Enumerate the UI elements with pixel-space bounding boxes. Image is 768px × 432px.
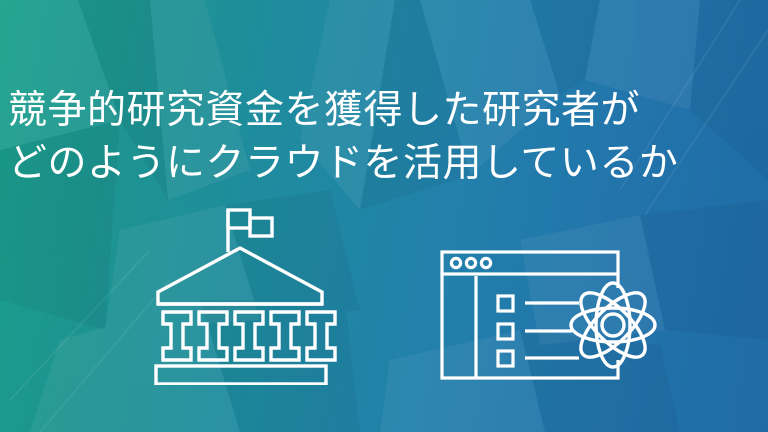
checkbox-3 (498, 351, 513, 366)
checkbox-list (498, 296, 579, 366)
bg-poly-12 (530, 0, 600, 95)
page-title: 競争的研究資金を獲得した研究者が どのようにクラウドを活用しているか (8, 84, 768, 190)
pediment-roof (158, 248, 322, 304)
window-dot-close-icon (451, 258, 460, 267)
flag-banner-lower (250, 218, 272, 236)
checkbox-2 (498, 324, 513, 339)
column-3 (235, 312, 263, 360)
building-base (156, 366, 326, 384)
institution-building-icon (140, 200, 340, 385)
flag-banner-upper (228, 210, 250, 228)
title-line-1: 競争的研究資金を獲得した研究者が (8, 84, 768, 137)
checkbox-1 (498, 296, 513, 311)
browser-title-bar (442, 252, 618, 274)
title-line-2: どのようにクラウドを活用しているか (8, 137, 768, 190)
atom-nucleus (602, 314, 624, 336)
column-2 (199, 312, 227, 360)
column-group (163, 312, 335, 360)
column-1 (163, 312, 191, 360)
research-browser-atom-icon (432, 240, 672, 390)
icon-row (0, 195, 768, 395)
slide-canvas: 競争的研究資金を獲得した研究者が どのようにクラウドを活用しているか (0, 0, 768, 432)
column-4 (271, 312, 299, 360)
atom-icon (571, 283, 655, 367)
column-5 (307, 312, 335, 360)
window-dot-maximize-icon (481, 258, 490, 267)
window-dot-minimize-icon (466, 258, 475, 267)
